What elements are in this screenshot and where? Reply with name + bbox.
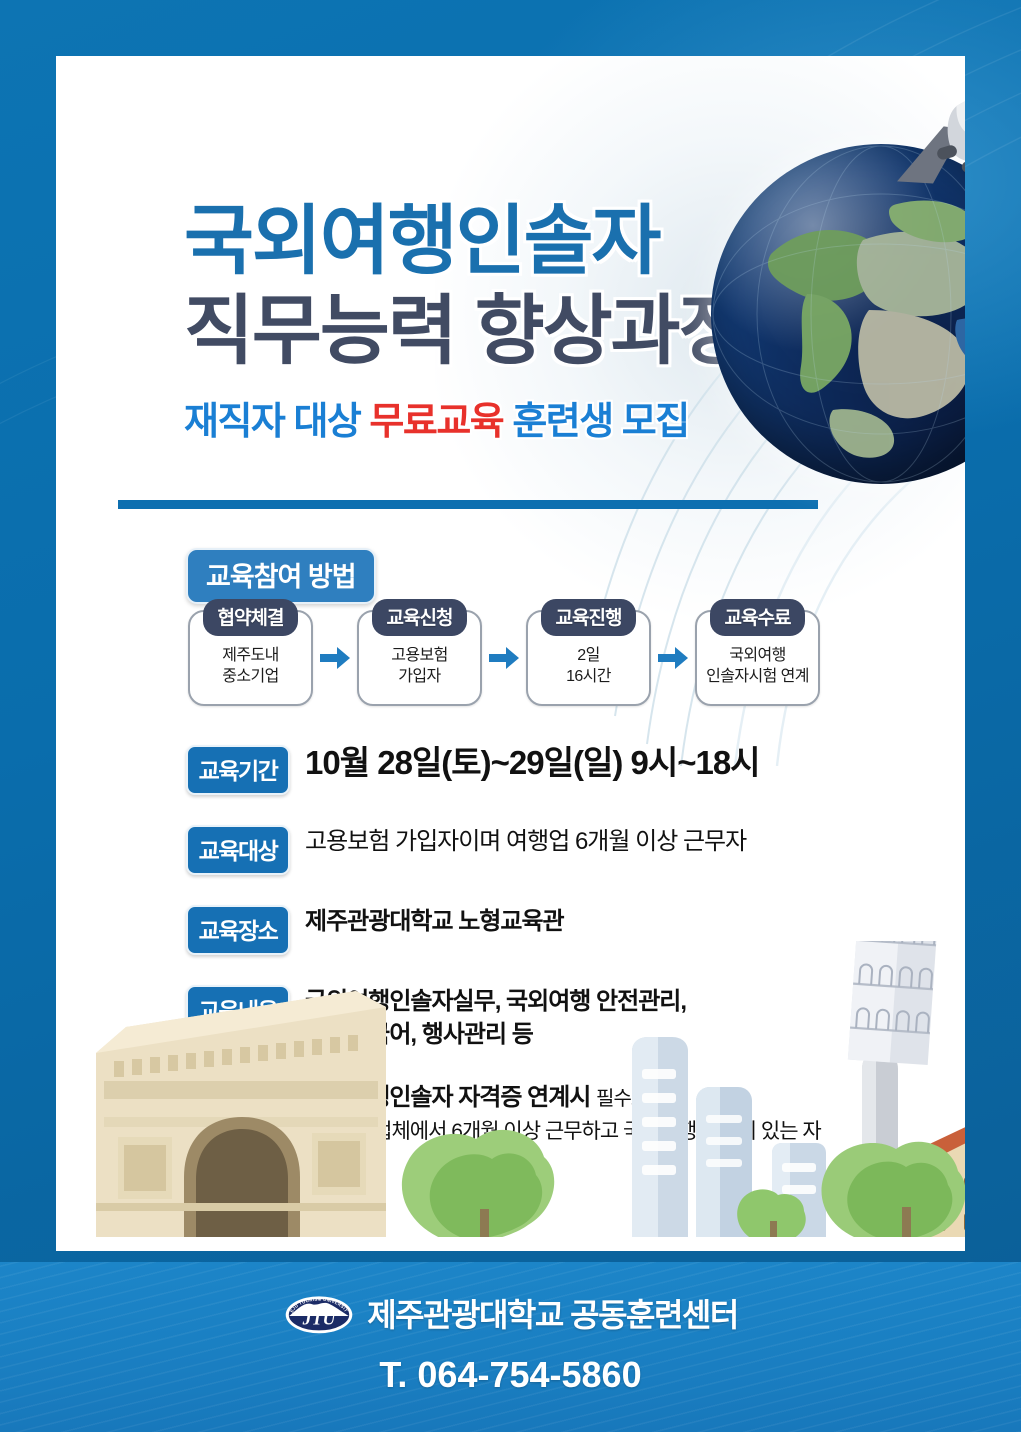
flow-step-head: 교육신청 — [372, 599, 468, 636]
flow-step-body: 국외여행 인솔자시험 연계 — [706, 645, 809, 687]
section-heading-badge: 교육참여 방법 — [186, 548, 376, 604]
info-row-audience: 교육대상 고용보험 가입자이며 여행업 6개월 이상 근무자 — [186, 822, 965, 875]
flow-step-body-line: 16시간 — [566, 666, 611, 687]
flow-step-body-line: 국외여행 — [706, 645, 809, 666]
info-rows: 교육기간 10월 28일(토)~29일(일) 9시~18시 교육대상 고용보험 … — [186, 742, 965, 1192]
info-row-label: 교육장소 — [186, 905, 290, 955]
tree-icon — [737, 1189, 806, 1247]
flow-step-head: 협약체결 — [203, 599, 299, 636]
info-row-label: 교육기간 — [186, 745, 290, 795]
subtitle-highlight: 무료교육 — [369, 401, 503, 443]
info-row-value-subnote: – 여행업체에서 6개월 이상 근무하고 국외여행 경험이 있는 자 — [305, 1118, 821, 1147]
info-row-label: 교육내용 — [186, 985, 290, 1035]
flow-step-head: 교육수료 — [710, 599, 806, 636]
info-row-value: 제주관광대학교 노형교육관 — [305, 905, 564, 938]
flow-step-body-line: 2일 — [566, 645, 611, 666]
info-row-value: 국외여행인솔자실무, 국외여행 안전관리, 실무외국어, 행사관리 등 — [305, 985, 686, 1051]
info-row-value-emphasis: 필수조건 — [596, 1088, 666, 1110]
flow-step-body-line: 인솔자시험 연계 — [706, 666, 809, 687]
flow-step-body-line: 고용보험 — [391, 645, 447, 666]
info-row-period: 교육기간 10월 28일(토)~29일(일) 9시~18시 — [186, 742, 965, 795]
poster-root: 국외여행인솔자 직무능력 향상과정 재직자 대상 무료교육 훈련생 모집 — [0, 0, 1021, 1432]
process-flow: 협약체결 제주도내 중소기업 교육신청 고용보험 가입자 교육진 — [188, 610, 820, 706]
flow-arrow-icon — [651, 647, 695, 669]
subtitle-part-2: 훈련생 모집 — [503, 401, 688, 443]
flow-step-body-line: 제주도내 — [222, 645, 278, 666]
flow-step: 교육신청 고용보험 가입자 — [357, 610, 482, 706]
content-card: 국외여행인솔자 직무능력 향상과정 재직자 대상 무료교육 훈련생 모집 — [56, 56, 965, 1251]
info-row-other: 기 타 국외여행인솔자 자격증 연계시 필수조건 – 여행업체에서 6개월 이상… — [186, 1078, 965, 1165]
info-row-label: 교육대상 — [186, 825, 290, 875]
flow-step: 교육진행 2일 16시간 — [526, 610, 651, 706]
flow-arrow-icon — [313, 647, 357, 669]
info-row-location: 교육장소 제주관광대학교 노형교육관 — [186, 902, 965, 955]
flow-arrow-icon — [482, 647, 526, 669]
subtitle-part-1: 재직자 대상 — [184, 401, 369, 443]
flow-step-head: 교육진행 — [541, 599, 637, 636]
info-row-value-line: 국외여행인솔자실무, 국외여행 안전관리, — [305, 985, 686, 1018]
info-row-value: 국외여행인솔자 자격증 연계시 필수조건 – 여행업체에서 6개월 이상 근무하… — [305, 1081, 821, 1147]
info-row-contents: 교육내용 국외여행인솔자실무, 국외여행 안전관리, 실무외국어, 행사관리 등 — [186, 982, 965, 1051]
info-row-value-line: 국외여행인솔자 자격증 연계시 필수조건 — [305, 1081, 821, 1114]
flow-step-body: 제주도내 중소기업 — [222, 645, 278, 687]
footer: JTU JEJU TOURISM UNIVERSITY 제주관광대학교 공동훈련… — [0, 1290, 1021, 1396]
flow-step-body: 2일 16시간 — [566, 645, 611, 687]
flow-step-body-line: 중소기업 — [222, 666, 278, 687]
info-row-label: 기 타 — [186, 1081, 290, 1165]
globe-illustration — [711, 144, 965, 494]
info-row-value-main: 국외여행인솔자 자격증 연계시 — [305, 1084, 596, 1111]
jtu-logo-icon: JTU JEJU TOURISM UNIVERSITY — [283, 1291, 355, 1335]
svg-text:JTU: JTU — [302, 1308, 337, 1328]
flow-step: 협약체결 제주도내 중소기업 — [188, 610, 313, 706]
info-row-value: 10월 28일(토)~29일(일) 9시~18시 — [305, 740, 760, 786]
flow-step: 교육수료 국외여행 인솔자시험 연계 — [695, 610, 820, 706]
info-row-value: 고용보험 가입자이며 여행업 6개월 이상 근무자 — [305, 825, 746, 858]
flow-step-body: 고용보험 가입자 — [391, 645, 447, 687]
info-row-value-line: 실무외국어, 행사관리 등 — [305, 1018, 686, 1051]
footer-organization: JTU JEJU TOURISM UNIVERSITY 제주관광대학교 공동훈련… — [283, 1290, 738, 1336]
horizontal-divider — [118, 500, 818, 509]
footer-organization-name: 제주관광대학교 공동훈련센터 — [367, 1290, 738, 1336]
flow-step-body-line: 가입자 — [391, 666, 447, 687]
footer-telephone: T. 064-754-5860 — [0, 1354, 1021, 1396]
